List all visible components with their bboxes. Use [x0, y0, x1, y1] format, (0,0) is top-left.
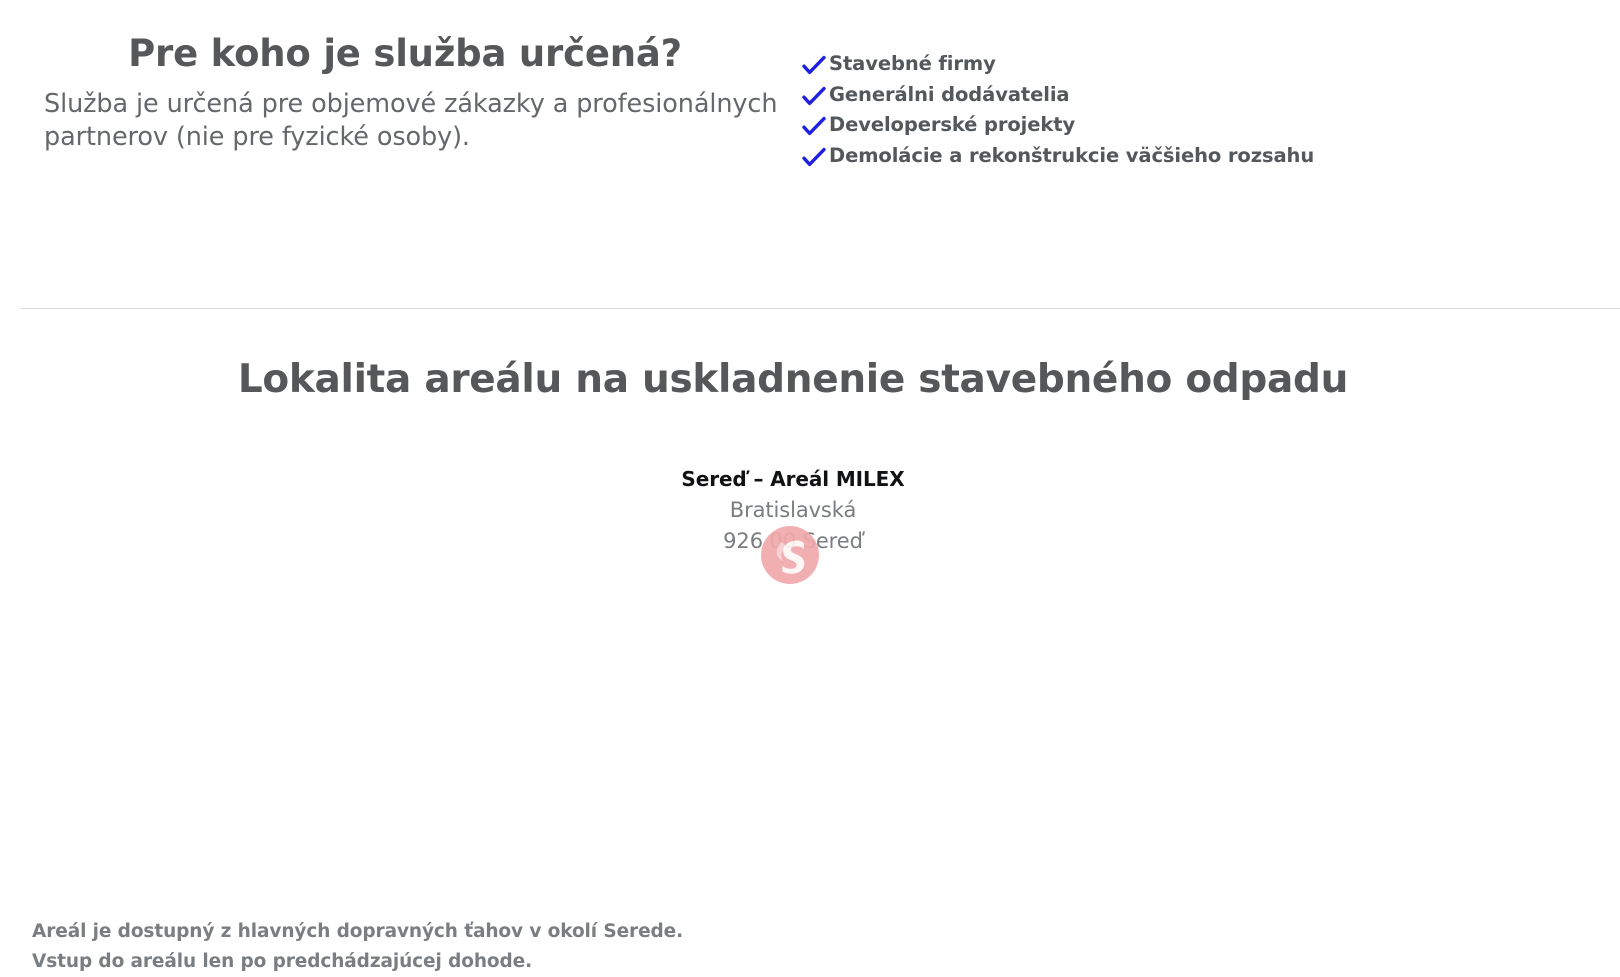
page-root: Pre koho je služba určená? Služba je urč… — [0, 0, 1620, 707]
list-item: Demolácie a rekonštrukcie väčšieho rozsa… — [800, 144, 1314, 167]
address-name: Sereď – Areál MILEX — [0, 464, 1586, 495]
checklist-item-label: Stavebné firmy — [829, 52, 996, 75]
audience-section: Pre koho je služba určená? Služba je urč… — [0, 0, 1620, 308]
list-item: Stavebné firmy — [800, 52, 1314, 75]
list-item: Developerské projekty — [800, 113, 1314, 136]
checklist-item-label: Developerské projekty — [829, 113, 1075, 136]
locality-footnotes: Areál je dostupný z hlavných dopravných … — [32, 917, 932, 977]
check-icon — [800, 54, 829, 77]
check-icon — [800, 146, 829, 169]
footnote-line: Areál je dostupný z hlavných dopravných … — [32, 917, 932, 947]
audience-heading: Pre koho je služba určená? — [20, 32, 790, 76]
list-item: Generálni dodávatelia — [800, 83, 1314, 106]
audience-intro-block: Pre koho je služba určená? Služba je urč… — [20, 32, 790, 154]
checklist-item-label: Demolácie a rekonštrukcie väčšieho rozsa… — [829, 144, 1314, 167]
address-street: Bratislavská — [0, 495, 1586, 526]
footnote-line: Vstup do areálu len po predchádzajúcej d… — [32, 947, 932, 977]
audience-description: Služba je určená pre objemové zákazky a … — [44, 88, 790, 154]
check-icon — [800, 85, 829, 108]
audience-checklist: Stavebné firmy Generálni dodávatelia Dev… — [800, 52, 1314, 174]
check-icon — [800, 115, 829, 138]
locality-heading: Lokalita areálu na uskladnenie stavebnéh… — [0, 357, 1586, 404]
locality-section: Lokalita areálu na uskladnenie stavebnéh… — [0, 309, 1620, 707]
swirl-s-logo-icon — [761, 526, 819, 584]
checklist-item-label: Generálni dodávatelia — [829, 83, 1069, 106]
